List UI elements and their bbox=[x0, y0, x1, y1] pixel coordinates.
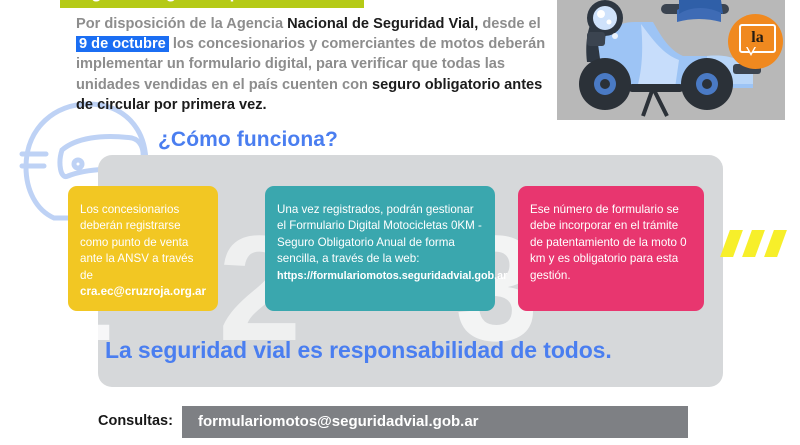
step-card-2-body: Una vez registrados, podrán gestionar el… bbox=[277, 203, 482, 265]
dash bbox=[764, 230, 787, 257]
step-card-2-url[interactable]: https://formulariomotos.seguridadvial.go… bbox=[277, 270, 507, 282]
step-card-3-body: Ese número de formulario se debe incorpo… bbox=[530, 203, 687, 282]
la-badge: la bbox=[728, 14, 783, 69]
la-badge-tail-inner bbox=[747, 46, 755, 53]
la-badge-text: la bbox=[739, 24, 776, 53]
section-heading: ¿Cómo funciona? bbox=[158, 128, 338, 152]
top-banner: Seguro obligatorio para motos 0 km bbox=[60, 0, 364, 8]
step-card-1-email[interactable]: cra.ec@cruzroja.org.ar bbox=[80, 285, 206, 298]
consultas-email-box: formulariomotos@seguridadvial.gob.ar bbox=[182, 406, 688, 438]
step-card-2: Una vez registrados, podrán gestionar el… bbox=[265, 186, 495, 311]
consultas-label: Consultas: bbox=[98, 413, 173, 429]
dash bbox=[742, 230, 765, 257]
tagline: La seguridad vial es responsabilidad de … bbox=[105, 337, 612, 364]
step-card-3: Ese número de formulario se debe incorpo… bbox=[518, 186, 704, 311]
dash bbox=[1, 340, 24, 367]
intro-text-1: Por disposición de la Agencia bbox=[76, 16, 287, 32]
intro-text-2: desde el bbox=[478, 16, 540, 32]
dash bbox=[720, 230, 743, 257]
step-card-1: Los concesionarios deberán registrarse c… bbox=[68, 186, 218, 311]
consultas-email[interactable]: formulariomotos@seguridadvial.gob.ar bbox=[198, 406, 479, 438]
scooter-image-block: la bbox=[557, 0, 785, 120]
intro-date-highlight: 9 de octubre bbox=[76, 36, 169, 52]
intro-paragraph: Por disposición de la Agencia Nacional d… bbox=[76, 14, 546, 115]
top-banner-text: Seguro obligatorio para motos 0 km bbox=[70, 0, 364, 2]
step-card-1-body: Los concesionarios deberán registrarse c… bbox=[80, 203, 193, 282]
intro-bold-agency: Nacional de Seguridad Vial, bbox=[287, 16, 478, 32]
